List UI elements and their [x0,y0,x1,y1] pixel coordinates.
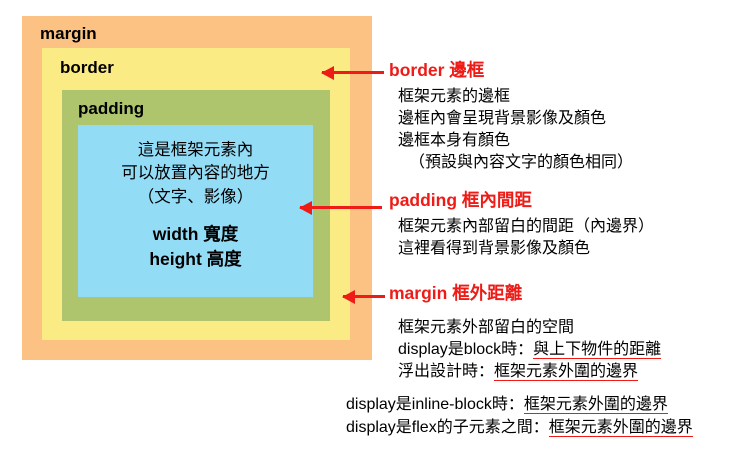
margin-annotation-line-3-underlined: 框架元素外圍的邊界 [494,363,638,381]
border-annotation-line-2: 邊框內會呈現背景影像及顏色 [389,108,633,130]
margin-annotation-title: margin 框外距離 [389,283,661,303]
content-text-line-3: （文字、影像） [138,186,254,209]
margin-annotation-line-2-underlined: 與上下物件的距離 [533,341,661,359]
footer-annotation-block: display是inline-block時：框架元素外圍的邊界 display是… [346,393,750,439]
padding-annotation-line-2: 這裡看得到背景影像及顏色 [389,238,654,260]
border-layer: border padding 這是框架元素內 可以放置內容的地方 （文字、影像）… [42,48,350,340]
padding-annotation-block: padding 框內間距 框架元素內部留白的間距（內邊界） 這裡看得到背景影像及… [389,190,654,260]
padding-annotation-line-1: 框架元素內部留白的間距（內邊界） [389,216,654,238]
border-annotation-line-3: 邊框本身有顏色 [389,130,633,152]
padding-annotation-title: padding 框內間距 [389,190,654,210]
footer-line-1-underlined: 框架元素外圍的邊界 [524,396,668,414]
padding-callout-arrow-icon [300,206,382,209]
border-annotation-line-1: 框架元素的邊框 [389,86,633,108]
content-height-label: height 高度 [149,247,241,272]
content-text-line-2: 可以放置內容的地方 [121,162,270,185]
margin-annotation-line-3: 浮出設計時：框架元素外圍的邊界 [389,361,661,383]
content-layer: 這是框架元素內 可以放置內容的地方 （文字、影像） width 寬度 heigh… [78,125,313,297]
content-text-line-1: 這是框架元素內 [138,139,254,162]
border-callout-arrow-icon [322,71,384,74]
margin-annotation-line-2: display是block時：與上下物件的距離 [389,339,661,361]
margin-annotation-line-1: 框架元素外部留白的空間 [389,317,661,339]
footer-line-1: display是inline-block時：框架元素外圍的邊界 [346,393,750,416]
footer-line-2: display是flex的子元素之間：框架元素外圍的邊界 [346,416,750,439]
margin-annotation-line-2-prefix: display是block時： [398,341,533,358]
border-layer-label: border [60,59,114,76]
margin-layer: margin border padding 這是框架元素內 可以放置內容的地方 … [22,16,372,360]
margin-callout-arrow-icon [343,295,385,298]
annotation-column: border 邊框 框架元素的邊框 邊框內會呈現背景影像及顏色 邊框本身有顏色 … [389,0,750,461]
footer-line-2-prefix: display是flex的子元素之間： [346,419,549,436]
margin-annotation-line-3-prefix: 浮出設計時： [398,363,494,380]
padding-layer: padding 這是框架元素內 可以放置內容的地方 （文字、影像） width … [62,90,330,321]
footer-line-1-prefix: display是inline-block時： [346,396,524,413]
border-annotation-line-4: （預設與內容文字的顏色相同） [389,152,633,174]
border-annotation-block: border 邊框 框架元素的邊框 邊框內會呈現背景影像及顏色 邊框本身有顏色 … [389,60,633,174]
footer-line-2-underlined: 框架元素外圍的邊界 [549,419,693,437]
margin-annotation-block: margin 框外距離 框架元素外部留白的空間 display是block時：與… [389,283,661,383]
padding-layer-label: padding [78,100,144,117]
content-width-label: width 寬度 [153,222,239,247]
border-annotation-title: border 邊框 [389,60,633,80]
margin-layer-label: margin [40,25,97,42]
box-model-diagram: margin border padding 這是框架元素內 可以放置內容的地方 … [22,16,372,360]
